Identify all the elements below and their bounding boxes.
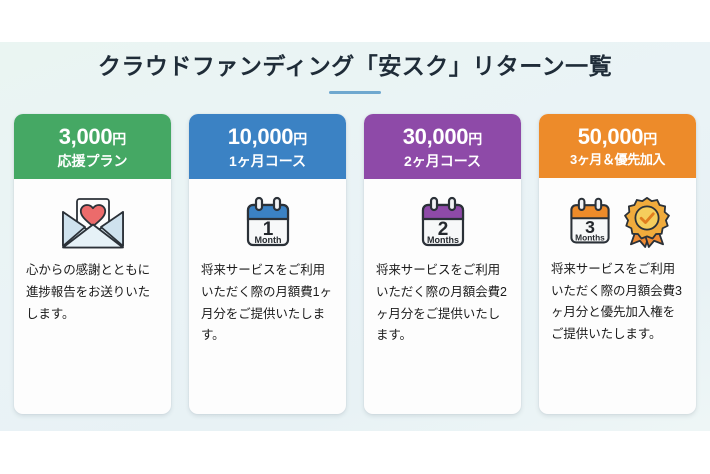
card-price-currency: 円 xyxy=(112,131,126,147)
card-description: 将来サービスをご利用いただく際の月額会費3ヶ月分と優先加入権をご提供いたします。 xyxy=(551,259,684,347)
card-body: 3 Months xyxy=(539,178,696,414)
card-price: 50,000円 xyxy=(545,125,690,149)
card-header: 50,000円 3ヶ月＆優先加入 xyxy=(539,114,696,178)
award-medal-icon xyxy=(622,196,672,248)
return-plan-card[interactable]: 3,000円 応援プラン xyxy=(14,114,171,414)
card-price: 30,000円 xyxy=(370,125,515,149)
calendar-icon: 2 Months xyxy=(415,195,471,251)
title-underline-rule xyxy=(329,91,381,94)
card-price: 10,000円 xyxy=(195,125,340,149)
slide-canvas: クラウドファンディング「安スク」リターン一覧 3,000円 応援プラン xyxy=(0,0,710,474)
card-description: 将来サービスをご利用いただく際の月額費1ヶ月分をご提供いたします。 xyxy=(201,260,334,348)
title-block: クラウドファンディング「安スク」リターン一覧 xyxy=(0,52,710,94)
return-plan-card[interactable]: 50,000円 3ヶ月＆優先加入 3 Months xyxy=(539,114,696,414)
calendar-unit-text: Months xyxy=(575,232,605,242)
card-icon-row xyxy=(56,192,130,254)
calendar-icon: 3 Months xyxy=(564,196,616,248)
card-plan-name: 1ヶ月コース xyxy=(195,153,340,169)
card-header: 10,000円 1ヶ月コース xyxy=(189,114,346,179)
card-description: 将来サービスをご利用いただく際の月額会費2ヶ月分をご提供いたします。 xyxy=(376,260,509,348)
card-body: 心からの感謝とともに進捗報告をお送りいたします。 xyxy=(14,179,171,414)
card-icon-row: 3 Months xyxy=(564,191,672,253)
return-plan-card[interactable]: 10,000円 1ヶ月コース 1 Month xyxy=(189,114,346,414)
card-price-amount: 30,000 xyxy=(403,124,469,149)
card-header: 3,000円 応援プラン xyxy=(14,114,171,179)
card-plan-name: 3ヶ月＆優先加入 xyxy=(545,153,690,168)
love-letter-icon xyxy=(56,196,130,250)
card-header: 30,000円 2ヶ月コース xyxy=(364,114,521,179)
card-plan-name: 応援プラン xyxy=(20,153,165,169)
return-plan-card-row: 3,000円 応援プラン xyxy=(14,114,696,414)
card-body: 1 Month 将来サービスをご利用いただく際の月額費1ヶ月分をご提供いたします… xyxy=(189,179,346,414)
card-price: 3,000円 xyxy=(20,125,165,149)
card-price-amount: 3,000 xyxy=(59,124,113,149)
calendar-icon: 1 Month xyxy=(240,195,296,251)
page-title: クラウドファンディング「安スク」リターン一覧 xyxy=(0,52,710,81)
card-price-currency: 円 xyxy=(468,131,482,147)
card-icon-row: 1 Month xyxy=(240,192,296,254)
card-price-currency: 円 xyxy=(643,131,657,147)
card-price-amount: 10,000 xyxy=(228,124,294,149)
return-plan-card[interactable]: 30,000円 2ヶ月コース 2 Months xyxy=(364,114,521,414)
card-price-currency: 円 xyxy=(293,131,307,147)
calendar-unit-text: Month xyxy=(254,235,281,245)
card-description: 心からの感謝とともに進捗報告をお送りいたします。 xyxy=(26,260,159,326)
calendar-unit-text: Months xyxy=(427,235,459,245)
card-plan-name: 2ヶ月コース xyxy=(370,153,515,169)
card-icon-row: 2 Months xyxy=(415,192,471,254)
card-price-amount: 50,000 xyxy=(578,124,644,149)
card-body: 2 Months 将来サービスをご利用いただく際の月額会費2ヶ月分をご提供いたし… xyxy=(364,179,521,414)
